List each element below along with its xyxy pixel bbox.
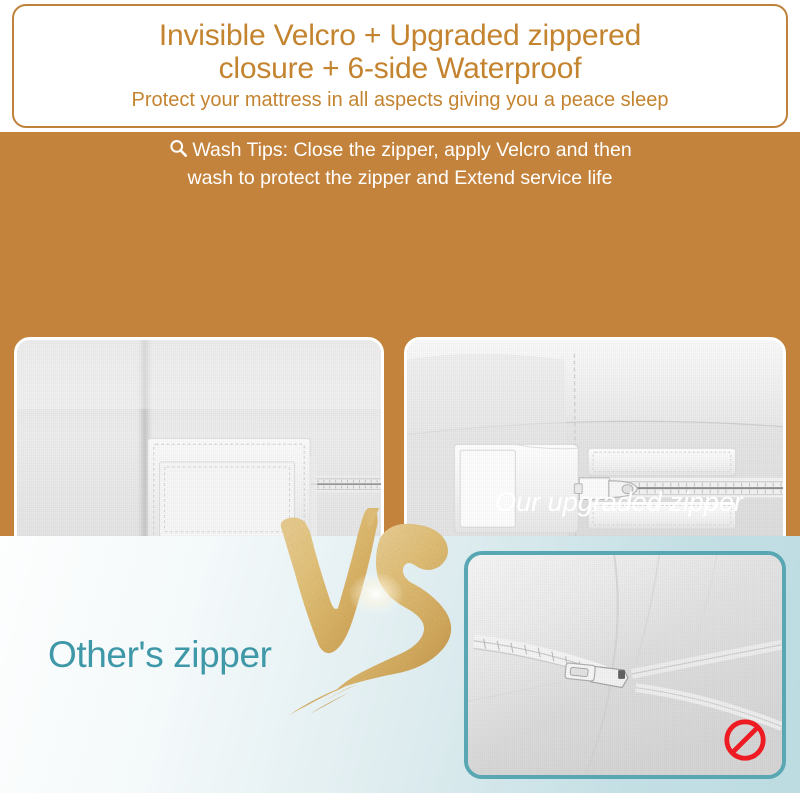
wash-tips-line-1: Wash Tips: Close the zipper, apply Velcr… — [192, 139, 631, 161]
header-subtitle: Protect your mattress in all aspects giv… — [132, 87, 669, 113]
wash-tips-section: Wash Tips: Close the zipper, apply Velcr… — [0, 132, 800, 536]
caption-our-upgraded-zipper: Our upgraded zipper — [452, 487, 786, 518]
header-banner: Invisible Velcro + Upgraded zippered clo… — [12, 4, 788, 128]
wash-tips-line-2: wash to protect the zipper and Extend se… — [0, 166, 800, 191]
infographic-page: Invisible Velcro + Upgraded zippered clo… — [0, 0, 800, 793]
red-prohibition-badge — [722, 717, 768, 763]
photo-other-zipper — [464, 551, 786, 779]
wash-tips-line-1-wrap: Wash Tips: Close the zipper, apply Velcr… — [0, 138, 800, 166]
header-line-2: closure + 6-side Waterproof — [219, 52, 582, 85]
header-line-1: Invisible Velcro + Upgraded zippered — [159, 19, 641, 52]
wash-tips-text: Wash Tips: Close the zipper, apply Velcr… — [0, 138, 800, 191]
magnifier-icon — [168, 138, 189, 166]
caption-others-zipper: Other's zipper — [48, 634, 272, 676]
